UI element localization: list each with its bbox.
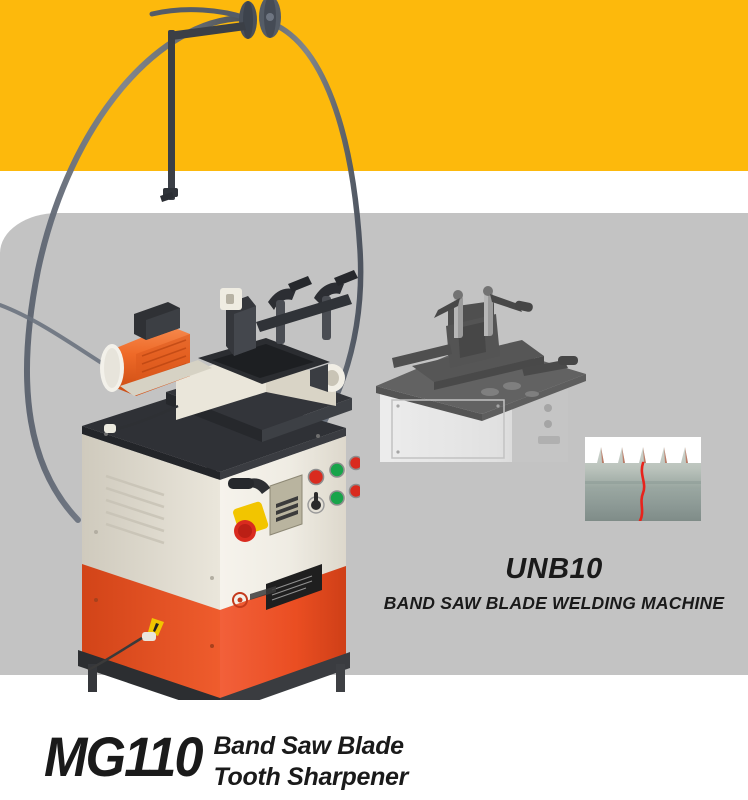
mg-description: Band Saw Blade Tooth Sharpener — [213, 731, 408, 793]
yellow-header-band — [0, 0, 748, 171]
mg-description-line1: Band Saw Blade — [213, 731, 408, 762]
product-poster: UNB10 BAND SAW BLADE WELDING MACHINE MG1… — [0, 0, 748, 800]
grinding-head — [220, 270, 358, 356]
unb-description-label: BAND SAW BLADE WELDING MACHINE — [360, 589, 748, 617]
tooth-sharpener-photo — [60, 180, 360, 700]
secondary-product-caption: UNB10 BAND SAW BLADE WELDING MACHINE — [360, 552, 748, 617]
unb-model-label: UNB10 — [360, 552, 748, 586]
welding-machine-photo — [372, 282, 592, 462]
blade-weld-closeup-inset — [585, 437, 701, 521]
mg-description-line2: Tooth Sharpener — [213, 762, 408, 793]
mg-model-label: MG110 — [44, 726, 202, 788]
primary-product-title: MG110 Band Saw Blade Tooth Sharpener — [44, 726, 408, 793]
